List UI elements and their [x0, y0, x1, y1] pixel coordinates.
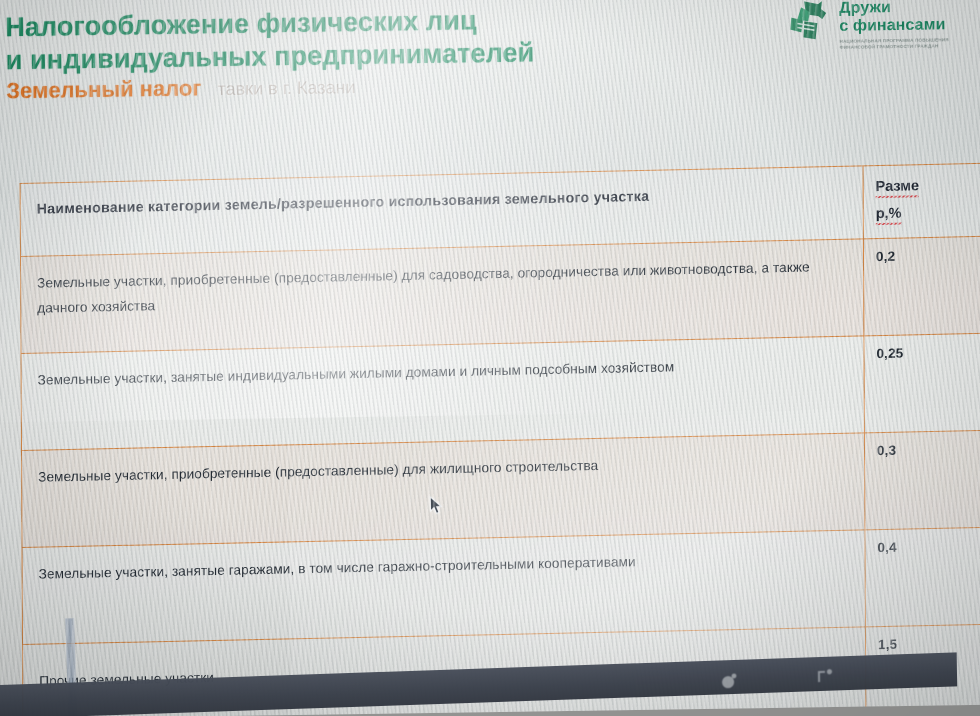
cell-rate: 0,25 [864, 333, 980, 433]
logo-text-block: Дружи с финансами НАЦИОНАЛЬНАЯ ПРОГРАММА… [839, 0, 972, 51]
taskbar-window-icon[interactable] [815, 666, 837, 687]
subtitle-main: Земельный налог [6, 75, 202, 104]
cell-category: Земельные участки, приобретенные (предос… [20, 239, 863, 354]
logo-line1: Дружи [839, 0, 971, 18]
dog-head-logo-icon [788, 0, 833, 42]
cell-rate: 0,4 [865, 527, 980, 627]
col-header-rate-line1: Разме [876, 178, 919, 198]
table-body: Земельные участки, приобретенные (предос… [20, 236, 980, 716]
mouse-cursor-icon [429, 496, 442, 515]
land-tax-rate-table: Наименование категории земель/разрешенно… [20, 163, 980, 716]
col-header-rate: Разме р,% [863, 163, 980, 239]
cell-rate: 0,3 [864, 430, 980, 530]
col-header-rate-line2: р,% [876, 206, 902, 226]
cell-rate: 0,2 [863, 236, 980, 336]
screen-surface: Налогообложение физических лиц и индивид… [0, 0, 980, 716]
cell-category: Земельные участки, приобретенные (предос… [22, 433, 865, 548]
logo-line2: с финансами [839, 16, 971, 36]
monitor-photo: Налогообложение физических лиц и индивид… [0, 0, 980, 716]
cell-category: Земельные участки, занятые гаражами, в т… [22, 530, 865, 645]
subtitle-faded: тавки в г. Казани [217, 76, 355, 100]
slide-header: Налогообложение физических лиц и индивид… [5, 1, 706, 104]
taskbar-app-icon[interactable] [719, 670, 739, 691]
brand-logo: Дружи с финансами НАЦИОНАЛЬНАЯ ПРОГРАММА… [788, 0, 972, 52]
logo-tagline: НАЦИОНАЛЬНАЯ ПРОГРАММА ПОВЫШЕНИЯ ФИНАНСО… [840, 37, 972, 51]
cell-category: Земельные участки, занятые индивидуальны… [21, 336, 864, 451]
presentation-slide: Налогообложение физических лиц и индивид… [0, 0, 980, 707]
